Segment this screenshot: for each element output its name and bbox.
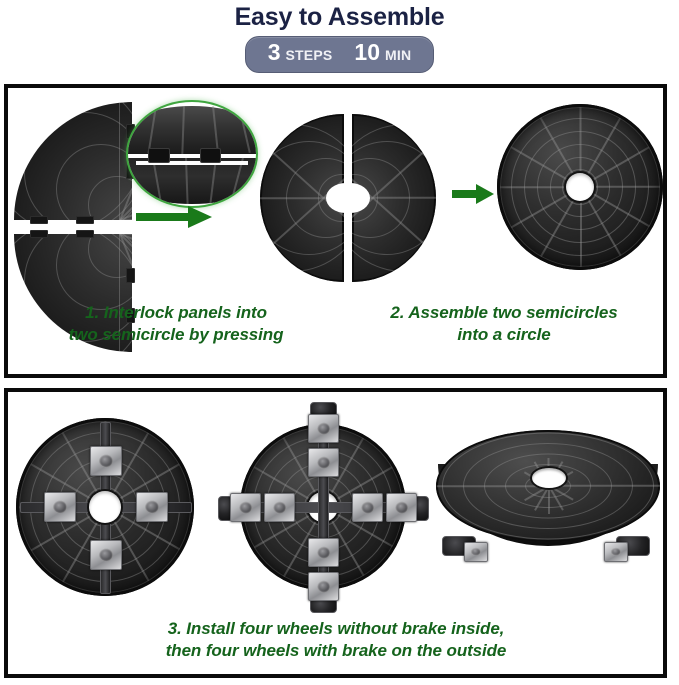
caption-step-3: 3. Install four wheels without brake ins…	[22, 618, 650, 662]
caption-step-1: 1. Interlock panels into two semicircle …	[18, 302, 334, 346]
outer-brake-wheel-bracket	[386, 493, 417, 522]
inner-wheel-bracket	[90, 540, 122, 570]
caddy-wheel-bracket	[604, 542, 628, 562]
green-right-arrow-icon	[452, 184, 498, 204]
semicircle-right	[352, 114, 436, 282]
finished-caddy	[436, 430, 660, 580]
interlock-clip	[148, 148, 169, 164]
caption-step-1-line-1: 1. Interlock panels into	[18, 302, 334, 324]
bottom-panel-stage: 3. Install four wheels without brake ins…	[8, 392, 663, 674]
badge-time-number: 10	[354, 40, 380, 64]
inner-wheel-bracket	[352, 493, 383, 522]
caddy-wheel-bracket	[464, 542, 488, 562]
interlock-callout	[126, 100, 258, 208]
caption-step-2-line-2: into a circle	[348, 324, 660, 346]
status-badge: 3 STEPS 10 MIN	[245, 36, 435, 73]
callout-upper-panel-edge	[126, 106, 258, 154]
inner-wheel-bracket	[308, 538, 339, 567]
quarter-panel-upper	[14, 102, 132, 220]
quarter-panel-upper-body	[14, 102, 132, 220]
outer-brake-wheel-bracket	[308, 414, 339, 443]
caption-step-3-line-1: 3. Install four wheels without brake ins…	[22, 618, 650, 640]
inner-wheel-bracket	[308, 448, 339, 477]
center-hole	[532, 468, 566, 488]
top-panel-stage: 1. Interlock panels into two semicircle …	[8, 88, 663, 374]
interlock-tab	[30, 230, 48, 238]
badge-steps-number: 3	[268, 40, 281, 64]
badge-steps-label: STEPS	[286, 43, 333, 67]
outer-brake-wheel-bracket	[230, 493, 261, 522]
caption-step-3-line-2: then four wheels with brake on the outsi…	[22, 640, 650, 662]
interlock-tab	[76, 216, 94, 224]
inner-wheel-bracket	[136, 492, 168, 522]
center-hole	[566, 173, 594, 201]
base-inner-wheels	[16, 418, 194, 596]
inner-wheel-bracket	[44, 492, 76, 522]
interlock-tab	[126, 268, 135, 283]
page-title: Easy to Assemble	[0, 2, 679, 32]
outer-brake-wheel-bracket	[308, 572, 339, 601]
interlock-clip	[200, 148, 221, 164]
green-right-arrow-icon	[136, 206, 214, 228]
interlock-tab	[76, 230, 94, 238]
inner-wheel-bracket	[90, 446, 122, 476]
badge-time-label: MIN	[385, 43, 411, 67]
caption-step-1-line-2: two semicircle by pressing	[18, 324, 334, 346]
step-1-and-2-panel: 1. Interlock panels into two semicircle …	[4, 84, 667, 378]
caption-step-2-line-1: 2. Assemble two semicircles	[348, 302, 660, 324]
inner-wheel-bracket	[264, 493, 295, 522]
caption-step-2: 2. Assemble two semicircles into a circl…	[348, 302, 660, 346]
header: Easy to Assemble 3 STEPS 10 MIN	[0, 0, 679, 73]
interlock-tab	[30, 216, 48, 224]
semicircle-left	[260, 114, 344, 282]
step-3-panel: 3. Install four wheels without brake ins…	[4, 388, 667, 678]
base-all-wheels	[218, 402, 428, 612]
center-hole	[89, 491, 121, 523]
assembled-circle	[497, 104, 663, 270]
